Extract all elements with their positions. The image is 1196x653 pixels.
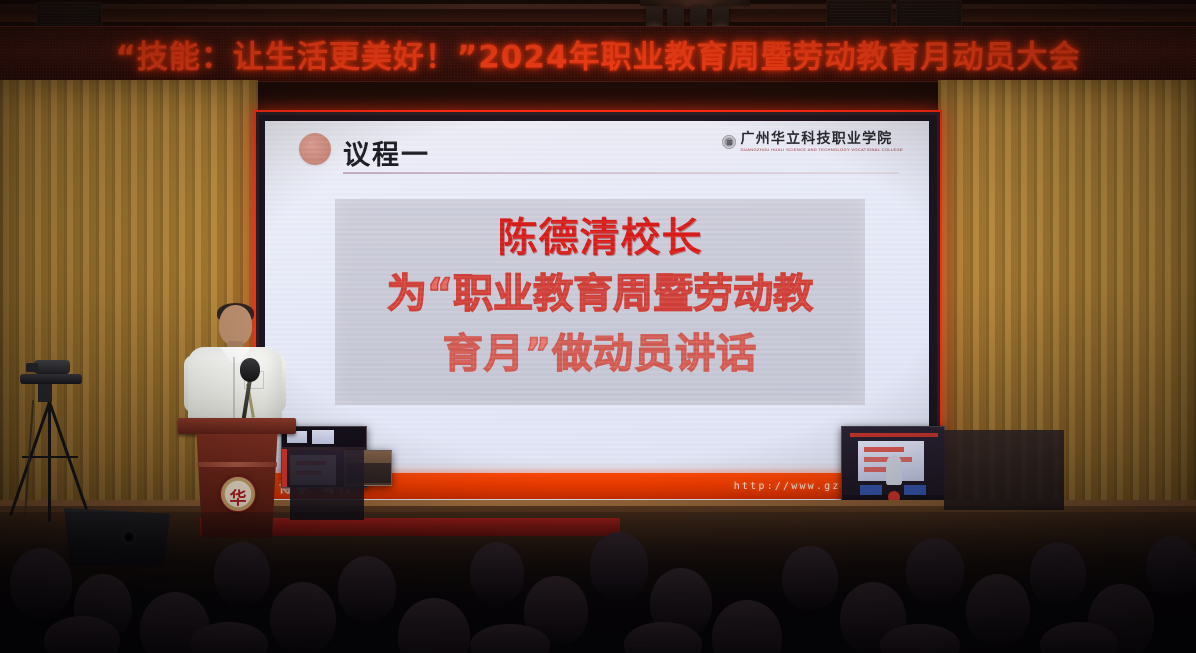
audience-head	[1146, 536, 1196, 598]
circle-icon	[299, 133, 331, 165]
pip-banner	[850, 433, 938, 437]
camera-body	[34, 360, 70, 374]
logo-name-en: GUANGZHOU HUALI SCIENCE AND TECHNOLOGY V…	[741, 148, 904, 152]
audience-head	[1030, 542, 1086, 606]
camera-plate	[20, 374, 82, 384]
audience-head	[966, 574, 1030, 646]
podium-trim	[197, 462, 277, 467]
header-divider	[343, 172, 899, 174]
tripod-head	[38, 384, 52, 402]
audience-head	[906, 538, 964, 604]
pip-stage-light	[860, 485, 882, 495]
audience-head	[10, 548, 72, 618]
av-equipment-rack	[944, 430, 1064, 510]
audience-head	[782, 546, 838, 610]
logo-name-cn: 广州华立科技职业学院	[741, 132, 904, 146]
video-camera-icon	[8, 360, 94, 535]
pip-stage-light	[904, 485, 926, 495]
audience-head	[214, 542, 270, 606]
camera-cable	[24, 400, 34, 518]
led-banner: “技能：让生活更美好！”2024年职业教育周暨劳动教育月动员大会	[0, 26, 1196, 82]
slide-line-3: 育月”做动员讲话	[335, 321, 865, 379]
microphone-icon	[232, 358, 272, 420]
auditorium-scene: “技能：让生活更美好！”2024年职业教育周暨劳动教育月动员大会 议程一 广州华…	[0, 0, 1196, 653]
tripod-leg	[48, 402, 51, 522]
audience-head	[270, 582, 336, 653]
slide-content-box: 陈德清校长 为“职业教育周暨劳动教 育月”做动员讲话	[335, 199, 865, 405]
banner-text: “技能：让生活更美好！”2024年职业教育周暨劳动教育月动员大会	[48, 32, 1148, 77]
pip-screen-text	[864, 447, 904, 452]
audience	[0, 512, 1196, 653]
slide-line-2: 为“职业教育周暨劳动教	[335, 261, 865, 319]
camera-lens	[26, 363, 38, 372]
audience-head	[338, 556, 396, 622]
audience-head	[398, 598, 470, 653]
presentation-slide: 议程一 广州华立科技职业学院 GUANGZHOU HUALI SCIENCE A…	[265, 121, 929, 473]
college-logo: 广州华立科技职业学院 GUANGZHOU HUALI SCIENCE AND T…	[722, 132, 904, 152]
slide-line-1: 陈德清校长	[335, 205, 865, 263]
pip-monitor	[312, 430, 334, 444]
pip-camera-feed-right	[841, 426, 945, 510]
podium-top	[178, 418, 296, 434]
slide-title: 议程一	[343, 133, 430, 172]
pip-presenter	[886, 455, 902, 485]
tripod-brace	[22, 456, 78, 458]
mic-capsule	[240, 358, 260, 382]
audience-head	[712, 600, 782, 653]
slide-header: 议程一 广州华立科技职业学院 GUANGZHOU HUALI SCIENCE A…	[265, 121, 929, 177]
college-seal-icon	[722, 135, 736, 149]
tripod-leg	[48, 402, 90, 516]
podium-emblem-icon	[220, 476, 256, 512]
audience-head	[470, 542, 524, 604]
presenter-head	[219, 305, 252, 345]
audience-head	[590, 532, 648, 600]
ceiling-beam	[0, 4, 1196, 9]
stage-monitor	[290, 450, 364, 520]
logo-text: 广州华立科技职业学院 GUANGZHOU HUALI SCIENCE AND T…	[741, 132, 904, 152]
